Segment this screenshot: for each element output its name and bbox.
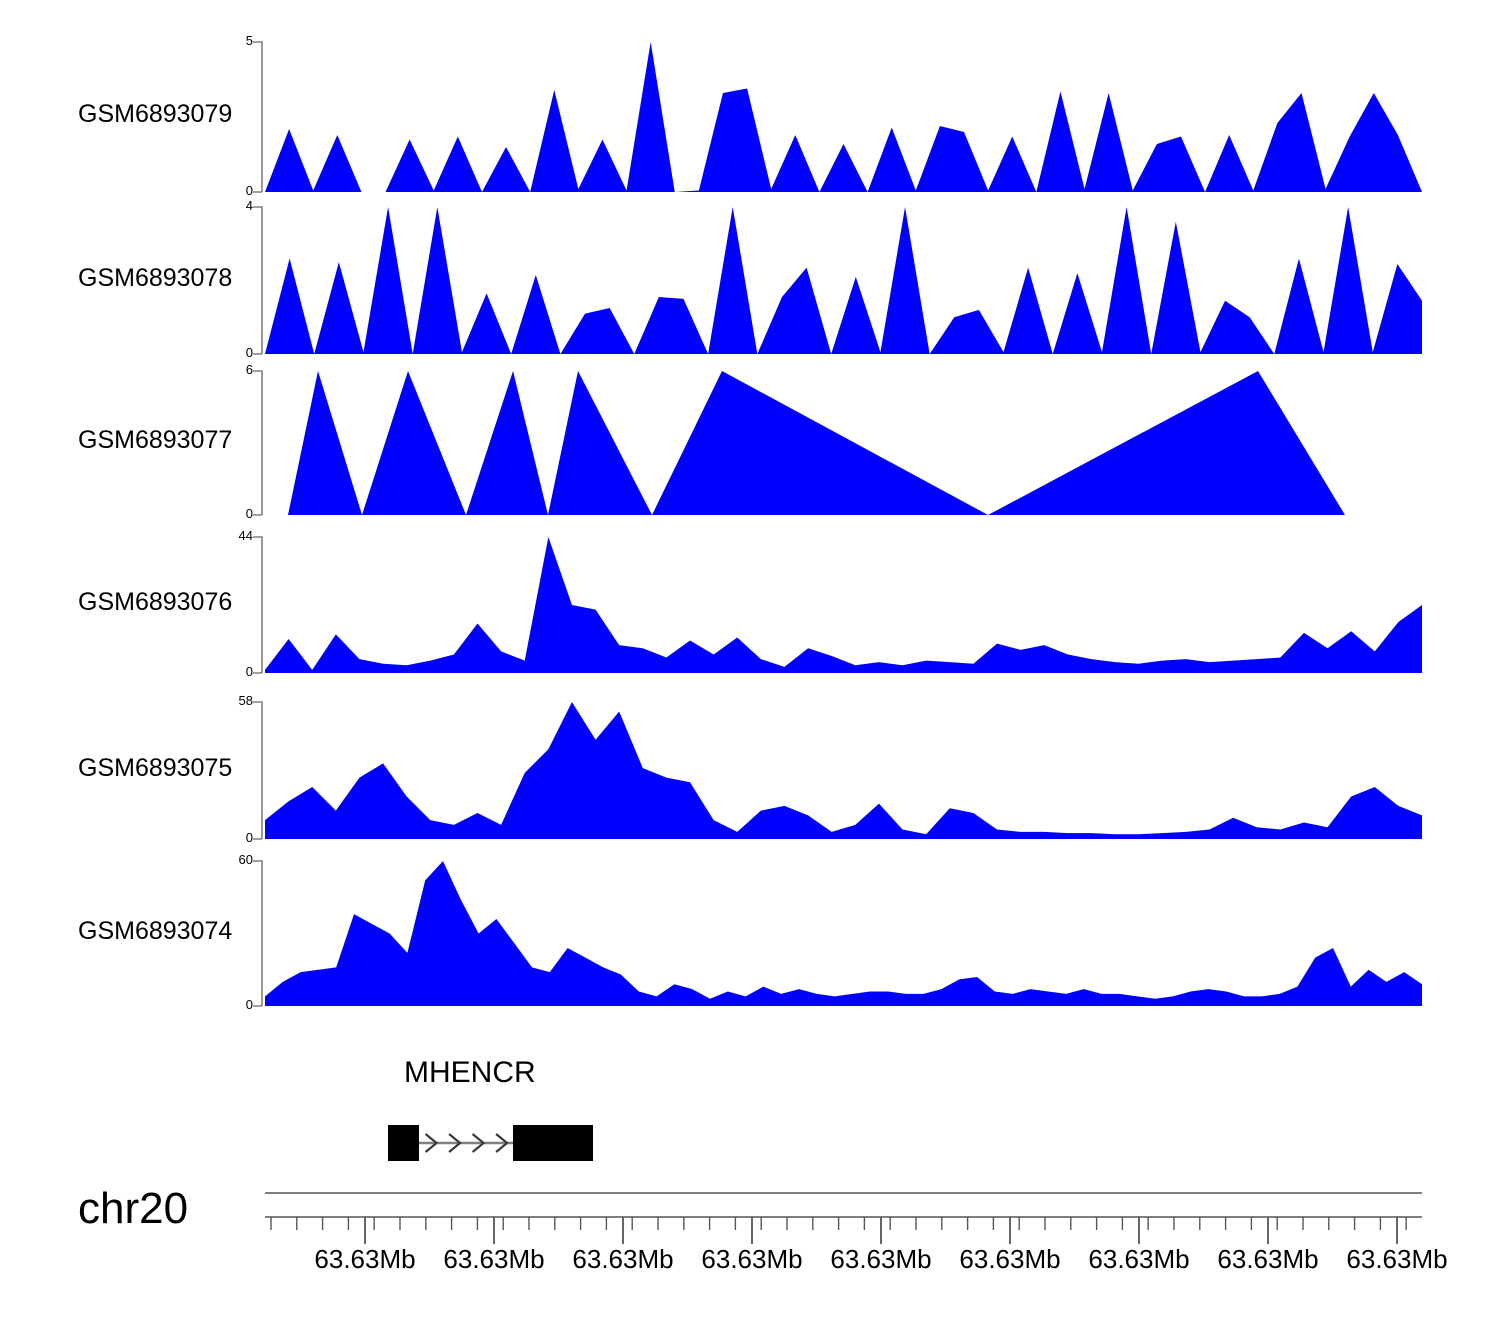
axis-tick-label: 63.63Mb [701,1244,802,1274]
exon-box-2[interactable] [513,1125,593,1161]
genome-browser-plot: GSM689307950GSM689307840GSM689307760GSM6… [0,0,1500,1320]
coverage-area [265,702,1422,839]
y-axis-bracket [253,371,262,515]
track-label-GSM6893076: GSM6893076 [78,588,232,617]
axis-tick-label: 63.63Mb [443,1244,544,1274]
axis-max-label: 60 [205,852,253,867]
axis-tick-label: 63.63Mb [959,1244,1060,1274]
genome-axis-row: chr20 63.63Mb63.63Mb63.63Mb63.63Mb63.63M… [0,1180,1500,1290]
exon-box-1[interactable] [388,1125,419,1161]
axis-max-label: 6 [205,362,253,377]
coverage-area [265,861,1422,1006]
coverage-area [265,207,1422,354]
gene-annotation-row: MHENCR [0,1055,1500,1165]
coverage-area [265,42,1422,192]
axis-max-label: 44 [205,528,253,543]
axis-min-label: 0 [205,997,253,1012]
axis-min-label: 0 [205,830,253,845]
axis-tick-label: 63.63Mb [572,1244,673,1274]
axis-min-label: 0 [205,183,253,198]
y-axis-bracket [253,42,262,192]
y-axis-bracket [253,537,262,673]
axis-max-label: 58 [205,693,253,708]
axis-max-label: 5 [205,33,253,48]
coverage-area [265,537,1422,673]
coverage-area [288,371,1345,515]
axis-tick-label: 63.63Mb [1088,1244,1189,1274]
axis-tick-label: 63.63Mb [1346,1244,1447,1274]
axis-tick-label: 63.63Mb [830,1244,931,1274]
track-label-GSM6893079: GSM6893079 [78,100,232,129]
y-axis-bracket [253,861,262,1006]
track-label-GSM6893077: GSM6893077 [78,426,232,455]
axis-tick-label: 63.63Mb [1217,1244,1318,1274]
track-label-GSM6893074: GSM6893074 [78,917,232,946]
y-axis-bracket [253,207,262,354]
axis-min-label: 0 [205,345,253,360]
axis-min-label: 0 [205,506,253,521]
axis-ruler[interactable]: 63.63Mb63.63Mb63.63Mb63.63Mb63.63Mb63.63… [0,1180,1500,1290]
axis-tick-label: 63.63Mb [314,1244,415,1274]
gene-name-label: MHENCR [404,1056,536,1090]
y-axis-bracket [253,702,262,839]
track-label-GSM6893078: GSM6893078 [78,264,232,293]
axis-min-label: 0 [205,664,253,679]
track-label-GSM6893075: GSM6893075 [78,754,232,783]
axis-max-label: 4 [205,198,253,213]
gene-model[interactable] [0,1103,1500,1173]
